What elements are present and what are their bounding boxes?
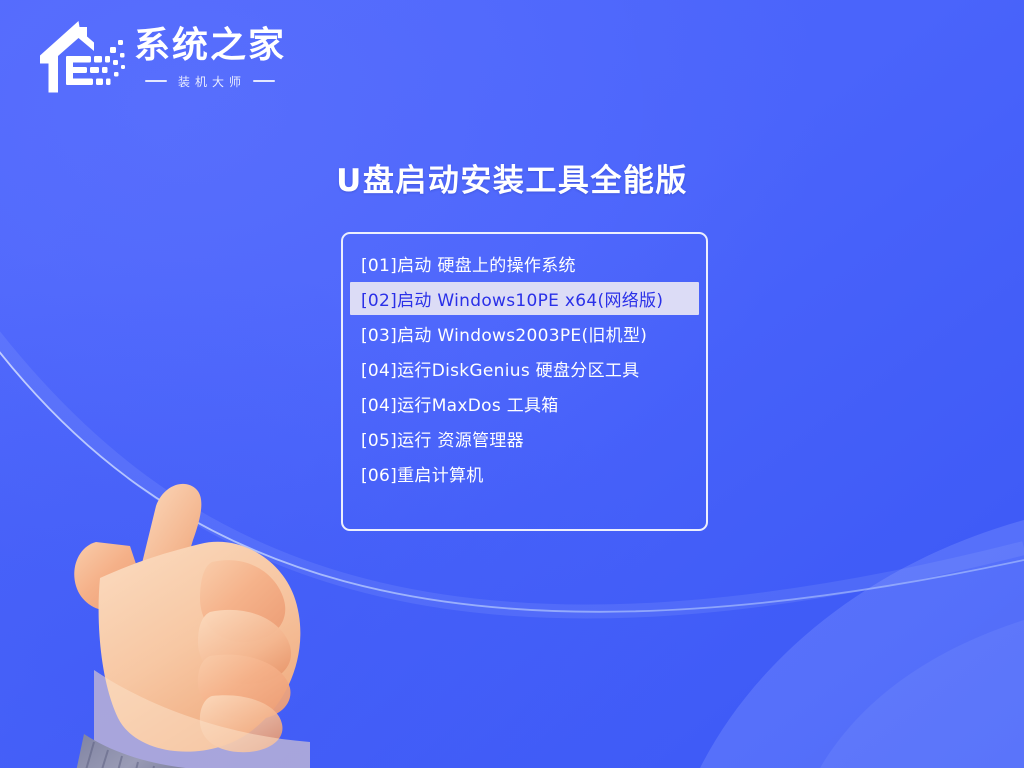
pointing-hand-illustration [60,470,420,768]
brand-tagline: 装机大师 [174,73,246,90]
house-pixel-logo-icon [34,16,128,98]
boot-menu-item-02[interactable]: [02]启动 Windows10PE x64(网络版) [350,282,699,315]
brand-logo: 系统之家 装机大师 [34,16,286,98]
boot-menu-item-05[interactable]: [04]运行MaxDos 工具箱 [350,387,699,420]
boot-menu-item-01[interactable]: [01]启动 硬盘上的操作系统 [350,247,699,280]
brand-wordmark: 系统之家 装机大师 [134,24,286,90]
boot-menu-item-03[interactable]: [03]启动 Windows2003PE(旧机型) [350,317,699,350]
page-title: U盘启动安装工具全能版 [0,155,1024,200]
tagline-dash-left [145,80,167,82]
tagline-dash-right [253,80,275,82]
boot-menu-item-04[interactable]: [04]运行DiskGenius 硬盘分区工具 [350,352,699,385]
brand-name: 系统之家 [134,26,286,66]
brand-tagline-row: 装机大师 [145,73,275,90]
boot-menu-item-06[interactable]: [05]运行 资源管理器 [350,422,699,455]
